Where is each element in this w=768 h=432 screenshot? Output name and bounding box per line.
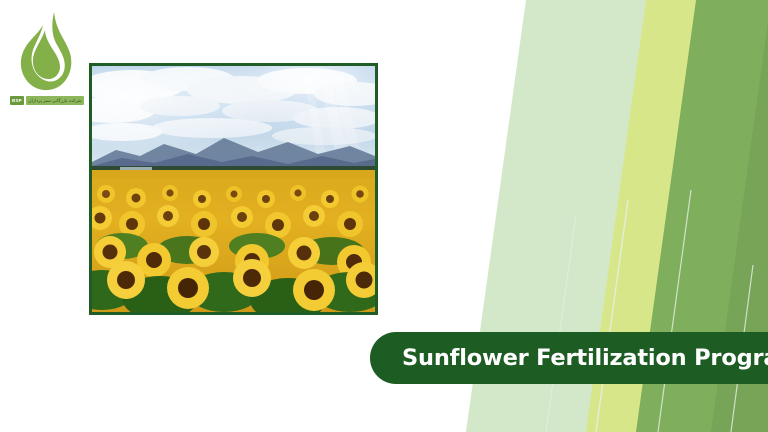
leaf-flame-icon-svg — [14, 10, 78, 94]
logo-caption: BSP شرکت بازرگانی سبز پردازان — [10, 94, 84, 107]
logo-caption-text: شرکت بازرگانی سبز پردازان — [26, 96, 84, 105]
slide-canvas: BSP شرکت بازرگانی سبز پردازان — [0, 0, 768, 432]
title-bar: Sunflower Fertilization Program — [370, 332, 768, 384]
leaf-flame-icon — [14, 10, 78, 94]
logo-badge: BSP — [10, 96, 24, 105]
brand-logo: BSP شرکت بازرگانی سبز پردازان — [8, 10, 86, 112]
sunflower-field-photo — [92, 66, 375, 312]
photo-frame — [89, 63, 378, 315]
slide-title: Sunflower Fertilization Program — [402, 345, 768, 371]
sunflower-field-graphic — [92, 66, 375, 312]
